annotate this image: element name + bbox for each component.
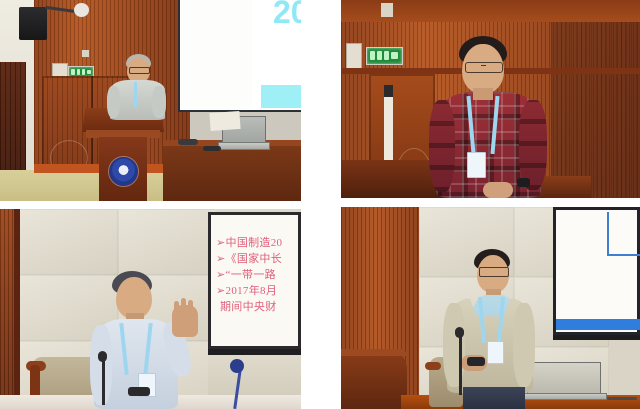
floor: [0, 170, 180, 201]
wall-tile: [18, 209, 118, 275]
finger: [181, 298, 186, 312]
slide-bullet-line: 期间中央财: [216, 299, 301, 315]
speaker-arm-right: [519, 100, 547, 190]
door-handle-dark: [384, 85, 393, 97]
desk-paper: [209, 111, 240, 131]
eyeglasses-icon: [479, 267, 509, 277]
speaker-badge: [467, 152, 486, 178]
photo-top-left[interactable]: 20: [0, 0, 301, 201]
slide-number-text: 20: [273, 0, 301, 31]
bullet-marker: ➢: [216, 269, 226, 281]
slide-border-accent: [607, 212, 640, 256]
slide-bullet-line: ➢《国家中长: [216, 251, 301, 267]
wood-column-inner: [14, 209, 20, 409]
speaker-badge: [487, 341, 504, 364]
speaker-arm-left: [107, 86, 120, 118]
finger: [188, 300, 193, 313]
eyeglasses-icon: [465, 62, 503, 73]
desk-items-2: [203, 146, 221, 151]
desk-mic-head-icon: [455, 327, 464, 338]
photo-top-right[interactable]: [341, 0, 640, 198]
ceiling-dome-light: [74, 3, 89, 17]
laptop-base: [521, 393, 607, 400]
chair-arm: [425, 362, 441, 370]
exit-sign-icon: [366, 47, 403, 65]
door-handle-plate: [384, 85, 393, 171]
wall-fixture: [346, 43, 362, 69]
slide-bullet-list: ➢中国制造20 ➢《国家中长 ➢“一带一路 ➢2017年8月 期间中央财: [216, 235, 301, 315]
wall-tile: [118, 209, 218, 275]
wristwatch-icon: [517, 178, 530, 187]
speaker-trousers: [463, 387, 525, 409]
photo-collage: 20: [0, 0, 640, 409]
bullet-marker: ➢: [216, 237, 226, 249]
speaker-lanyard: [134, 82, 137, 108]
ceiling-speaker: [19, 7, 47, 40]
speaker-neck: [473, 88, 493, 100]
lectern: [341, 349, 407, 409]
wall-plate: [381, 3, 393, 17]
desk-mic-stem: [102, 359, 105, 405]
slide-bullet-line: ➢“一带一路: [216, 267, 301, 283]
slide-footer-bar: [556, 319, 640, 330]
laptop-base: [218, 142, 270, 150]
photo-bottom-right[interactable]: [341, 207, 640, 409]
speaker-arm-left: [90, 325, 112, 405]
eyeglasses-icon: [129, 67, 150, 74]
slide-bullet-line: ➢中国制造20: [216, 235, 301, 251]
finger: [174, 301, 179, 313]
presenter-remote-icon: [467, 357, 485, 366]
desk-mic-head-icon: [98, 351, 107, 362]
speaker-arm-right: [513, 303, 535, 387]
eyeglasses-bridge: [481, 65, 486, 66]
lectern-emblem-icon: [109, 157, 138, 186]
bullet-marker: ➢: [216, 253, 226, 265]
blue-mic-head-icon: [230, 359, 244, 373]
door-left: [0, 62, 26, 178]
speaker-arm-right: [152, 86, 166, 118]
slide-accent-band: [261, 85, 301, 108]
bullet-marker: ➢: [216, 285, 226, 297]
lectern-top-edge: [341, 349, 407, 356]
speaker-arm-left: [429, 100, 455, 192]
desk-cable: [607, 397, 637, 400]
screen-shadow-bottom: [553, 335, 640, 340]
presenter-remote-icon: [128, 387, 150, 396]
wall-socket: [82, 50, 89, 57]
desk-items: [178, 139, 198, 145]
speaker-hand: [483, 182, 513, 198]
desk-mic-stem: [459, 335, 462, 395]
slide-bullet-line: ➢2017年8月: [216, 283, 301, 299]
photo-bottom-left[interactable]: ➢中国制造20 ➢《国家中长 ➢“一带一路 ➢2017年8月 期间中央财: [0, 209, 301, 409]
wood-wall-shadow-right: [551, 0, 640, 198]
